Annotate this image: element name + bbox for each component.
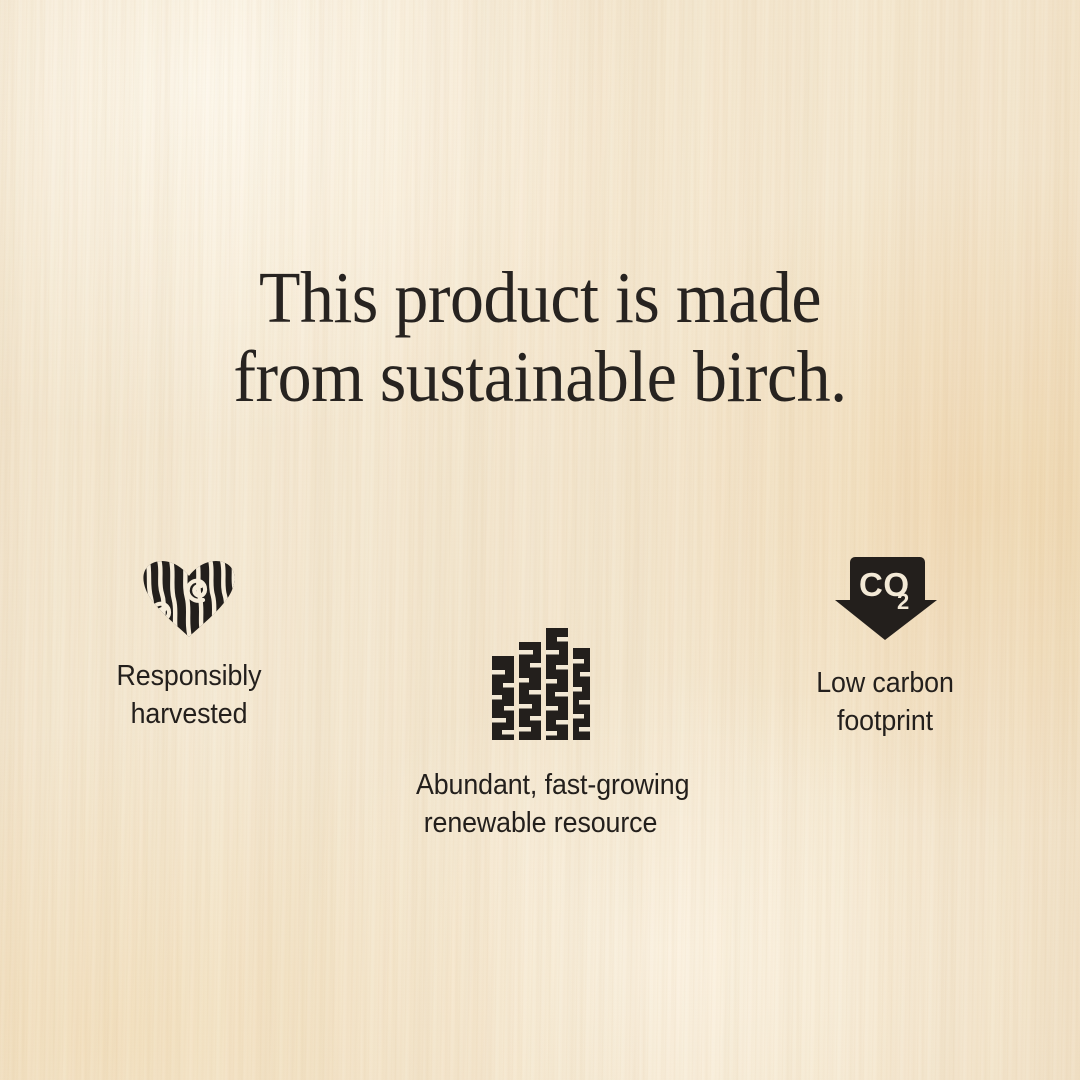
feature-caption: Abundant, fast-growing renewable resourc… — [416, 766, 665, 842]
wood-panel-background: This product is made from sustainable bi… — [0, 0, 1080, 1080]
headline: This product is made from sustainable bi… — [38, 258, 1042, 416]
feature-caption: Low carbon footprint — [760, 664, 1010, 740]
caption-line-1: Low carbon — [760, 664, 1010, 702]
wood-grain-heart-icon — [141, 560, 237, 638]
caption-line-2: harvested — [67, 695, 311, 733]
birch-logs-icon — [489, 626, 593, 744]
caption-line-1: Responsibly — [67, 657, 311, 695]
headline-line-1: This product is made — [38, 258, 1042, 337]
co2-down-arrow-icon: CO 2 — [833, 554, 937, 642]
co2-subscript: 2 — [897, 589, 909, 614]
caption-line-2: renewable resource — [416, 804, 665, 842]
icon-container — [59, 552, 319, 638]
caption-line-2: footprint — [760, 702, 1010, 740]
caption-line-1: Abundant, fast-growing — [416, 766, 665, 804]
feature-renewable-resource: Abundant, fast-growing renewable resourc… — [408, 622, 673, 842]
feature-caption: Responsibly harvested — [67, 657, 311, 733]
feature-low-carbon-footprint: CO 2 Low carbon footprint — [752, 550, 1018, 740]
headline-line-2: from sustainable birch. — [38, 337, 1042, 416]
icon-container: CO 2 — [752, 550, 1018, 642]
icon-container — [408, 622, 673, 744]
feature-responsibly-harvested: Responsibly harvested — [59, 552, 319, 733]
